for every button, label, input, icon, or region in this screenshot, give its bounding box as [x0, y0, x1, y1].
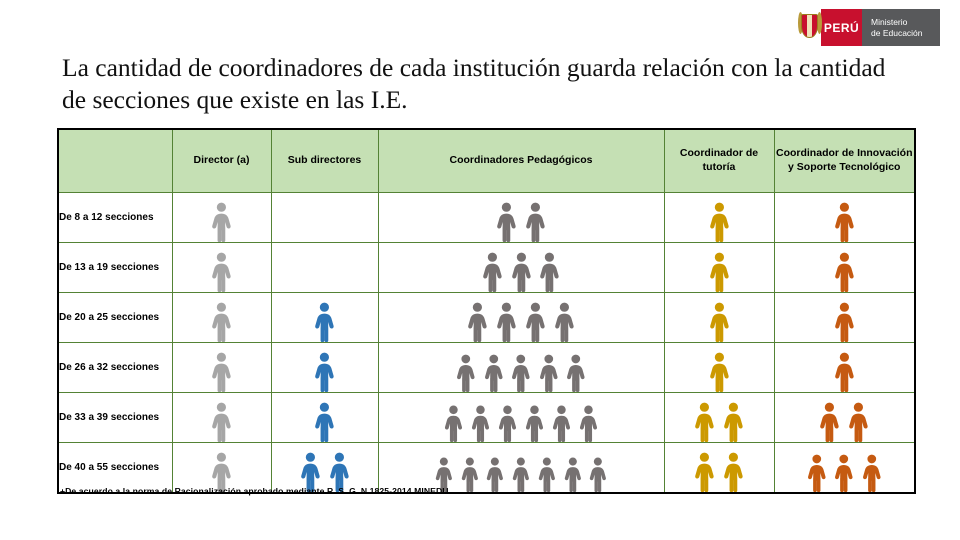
cell-director [172, 343, 271, 393]
ministry-label: Ministerio de Educación [862, 9, 940, 46]
cell-subdirectores [271, 393, 378, 443]
cell-subdirectores [271, 243, 378, 293]
person-icon [494, 302, 519, 342]
pictogram-group [272, 393, 378, 442]
footnote: +De acuerdo a la norma de Racionalizació… [60, 486, 449, 496]
pictogram-group [173, 193, 271, 242]
cell-coord-tutoria [664, 243, 774, 293]
shield-shape [801, 14, 818, 38]
cell-coord-tutoria [664, 343, 774, 393]
person-icon [846, 402, 871, 442]
pictogram-group [379, 393, 664, 442]
pictogram-group [665, 343, 774, 392]
cell-coord-tutoria [664, 193, 774, 243]
table-body: De 8 a 12 seccionesDe 13 a 19 seccionesD… [58, 193, 915, 494]
pictogram-group [173, 393, 271, 442]
pictogram-group [775, 243, 915, 292]
column-header-coordinadores-pedagogicos: Coordinadores Pedagógicos [378, 129, 664, 193]
cell-coord-tutoria [664, 443, 774, 494]
pictogram-group [379, 343, 664, 392]
person-icon [832, 302, 857, 342]
coordinators-table: Director (a) Sub directores Coordinadore… [57, 128, 916, 494]
pictogram-group [379, 243, 664, 292]
pictogram-group [665, 293, 774, 342]
ministry-line-1: Ministerio [871, 17, 940, 28]
cell-director [172, 393, 271, 443]
pictogram-group [272, 443, 378, 492]
cell-coord-innovacion [774, 343, 915, 393]
person-icon [312, 402, 337, 442]
row-label-secciones: De 20 a 25 secciones [58, 293, 172, 343]
person-icon [860, 454, 884, 492]
cell-director [172, 293, 271, 343]
pictogram-group [272, 343, 378, 392]
table-header-row: Director (a) Sub directores Coordinadore… [58, 129, 915, 193]
cell-coord-innovacion [774, 193, 915, 243]
table-row: De 13 a 19 secciones [58, 243, 915, 293]
person-icon [510, 457, 532, 492]
column-header-coordinador-innovacion: Coordinador de Innovación y Soporte Tecn… [774, 129, 915, 193]
pictogram-group [379, 293, 664, 342]
pictogram-group [775, 293, 915, 342]
cell-coord-pedagogicos [378, 393, 664, 443]
person-icon [480, 252, 505, 292]
pictogram-group [665, 443, 774, 492]
pictogram-group [665, 193, 774, 242]
person-icon [552, 302, 577, 342]
cell-coord-innovacion [774, 243, 915, 293]
table-row: De 20 a 25 secciones [58, 293, 915, 343]
row-label-secciones: De 8 a 12 secciones [58, 193, 172, 243]
person-icon [209, 402, 234, 442]
pictogram-group [665, 243, 774, 292]
pictogram-group [775, 343, 915, 392]
row-label-secciones: De 26 a 32 secciones [58, 343, 172, 393]
person-icon [805, 454, 829, 492]
person-icon [587, 457, 609, 492]
pictogram-group [173, 243, 271, 292]
ministry-line-2: de Educación [871, 28, 940, 39]
person-icon [454, 354, 478, 392]
peru-coat-of-arms-icon [799, 9, 821, 46]
person-icon [442, 405, 465, 442]
pictogram-group [379, 443, 664, 492]
pictogram-group [173, 443, 271, 492]
cell-coord-pedagogicos [378, 243, 664, 293]
person-icon [832, 454, 856, 492]
person-icon [721, 452, 746, 492]
table-row: De 33 a 39 secciones [58, 393, 915, 443]
cell-subdirectores [271, 193, 378, 243]
person-icon [523, 302, 548, 342]
person-icon [550, 405, 573, 442]
person-icon [577, 405, 600, 442]
person-icon [459, 457, 481, 492]
person-icon [562, 457, 584, 492]
person-icon [707, 302, 732, 342]
person-icon [209, 302, 234, 342]
cell-coord-pedagogicos [378, 293, 664, 343]
pictogram-group [173, 293, 271, 342]
person-icon [817, 402, 842, 442]
person-icon [523, 202, 548, 242]
person-icon [209, 252, 234, 292]
person-icon [312, 302, 337, 342]
person-icon [469, 405, 492, 442]
cell-director [172, 243, 271, 293]
person-icon [496, 405, 519, 442]
person-icon [707, 202, 732, 242]
person-icon [832, 352, 857, 392]
pictogram-group [272, 293, 378, 342]
person-icon [312, 352, 337, 392]
pictogram-group [775, 393, 915, 442]
person-icon [494, 202, 519, 242]
person-icon [537, 354, 561, 392]
pictogram-group [775, 443, 915, 492]
cell-coord-tutoria [664, 293, 774, 343]
column-header-director: Director (a) [172, 129, 271, 193]
cell-coord-tutoria [664, 393, 774, 443]
person-icon [707, 352, 732, 392]
person-icon [537, 252, 562, 292]
table-row: De 8 a 12 secciones [58, 193, 915, 243]
person-icon [832, 202, 857, 242]
cell-subdirectores [271, 293, 378, 343]
person-icon [509, 252, 534, 292]
person-icon [692, 402, 717, 442]
person-icon [209, 352, 234, 392]
cell-coord-innovacion [774, 293, 915, 343]
column-header-secciones [58, 129, 172, 193]
pictogram-group [379, 193, 664, 242]
person-icon [209, 202, 234, 242]
pictogram-group [665, 393, 774, 442]
person-icon [721, 402, 746, 442]
person-icon [509, 354, 533, 392]
table-row: De 26 a 32 secciones [58, 343, 915, 393]
pictogram-group [173, 343, 271, 392]
person-icon [465, 302, 490, 342]
peru-label: PERÚ [821, 9, 862, 46]
page-title: La cantidad de coordinadores de cada ins… [62, 52, 907, 117]
cell-coord-innovacion [774, 443, 915, 494]
row-label-secciones: De 33 a 39 secciones [58, 393, 172, 443]
column-header-subdirectores: Sub directores [271, 129, 378, 193]
person-icon [523, 405, 546, 442]
cell-director [172, 193, 271, 243]
person-icon [832, 252, 857, 292]
person-icon [692, 452, 717, 492]
column-header-coordinador-tutoria: Coordinador de tutoría [664, 129, 774, 193]
person-icon [536, 457, 558, 492]
cell-subdirectores [271, 343, 378, 393]
cell-coord-innovacion [774, 393, 915, 443]
row-label-secciones: De 13 a 19 secciones [58, 243, 172, 293]
person-icon [707, 252, 732, 292]
minedu-logo: PERÚ Ministerio de Educación [799, 9, 940, 46]
cell-coord-pedagogicos [378, 343, 664, 393]
person-icon [482, 354, 506, 392]
person-icon [564, 354, 588, 392]
person-icon [484, 457, 506, 492]
pictogram-group [775, 193, 915, 242]
cell-coord-pedagogicos [378, 193, 664, 243]
